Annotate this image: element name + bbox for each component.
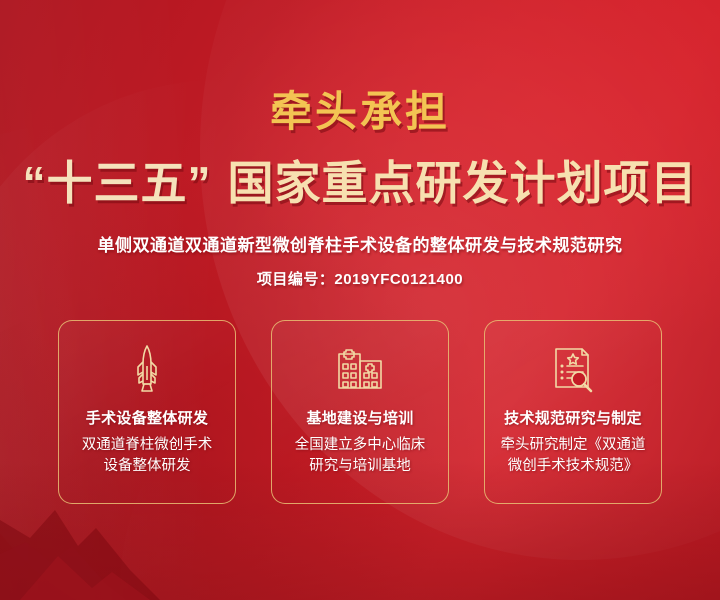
feature-card-title: 技术规范研究与制定 bbox=[504, 407, 642, 428]
page-title-secondary-quoted: “十三五” bbox=[23, 157, 212, 209]
feature-card-description-line2: 微创手术技术规范》 bbox=[508, 458, 639, 474]
feature-card-description-line1: 牵头研究制定《双通道 bbox=[501, 437, 646, 453]
feature-card-description-line1: 全国建立多中心临床 bbox=[295, 437, 426, 453]
feature-card-description-line1: 双通道脊柱微创手术 bbox=[82, 437, 213, 453]
poster-subtitle: 单侧双通道双通道新型微创脊柱手术设备的整体研发与技术规范研究 bbox=[0, 231, 720, 256]
feature-card-research[interactable]: 手术设备整体研发 双通道脊柱微创手术 设备整体研发 bbox=[58, 320, 236, 504]
feature-card-description-line2: 研究与培训基地 bbox=[309, 458, 411, 474]
feature-card-standards[interactable]: 技术规范研究与制定 牵头研究制定《双通道 微创手术技术规范》 bbox=[484, 320, 662, 504]
poster-banner: 牵头承担 “十三五”国家重点研发计划项目 单侧双通道双通道新型微创脊柱手术设备的… bbox=[0, 0, 720, 600]
feature-card-base-training[interactable]: 基地建设与培训 全国建立多中心临床 研究与培训基地 bbox=[271, 320, 449, 504]
page-title-primary: 牵头承担 bbox=[0, 78, 720, 139]
feature-card-description-line2: 设备整体研发 bbox=[104, 458, 191, 474]
feature-card-title: 手术设备整体研发 bbox=[86, 407, 208, 428]
feature-card-description: 双通道脊柱微创手术 设备整体研发 bbox=[63, 435, 231, 477]
page-title-secondary: “十三五”国家重点研发计划项目 bbox=[0, 147, 720, 213]
page-title-secondary-rest: 国家重点研发计划项目 bbox=[228, 157, 698, 209]
document-search-icon bbox=[550, 343, 596, 395]
poster-header: 牵头承担 “十三五”国家重点研发计划项目 单侧双通道双通道新型微创脊柱手术设备的… bbox=[0, 0, 720, 289]
feature-card-title: 基地建设与培训 bbox=[306, 407, 413, 428]
feature-card-description: 全国建立多中心临床 研究与培训基地 bbox=[276, 435, 444, 477]
feature-card-list: 手术设备整体研发 双通道脊柱微创手术 设备整体研发 bbox=[58, 320, 662, 504]
project-number-label: 项目编号：2019YFC0121400 bbox=[0, 268, 720, 289]
hospital-building-icon bbox=[336, 343, 384, 395]
rocket-icon bbox=[132, 343, 162, 395]
feature-card-description: 牵头研究制定《双通道 微创手术技术规范》 bbox=[489, 435, 657, 477]
